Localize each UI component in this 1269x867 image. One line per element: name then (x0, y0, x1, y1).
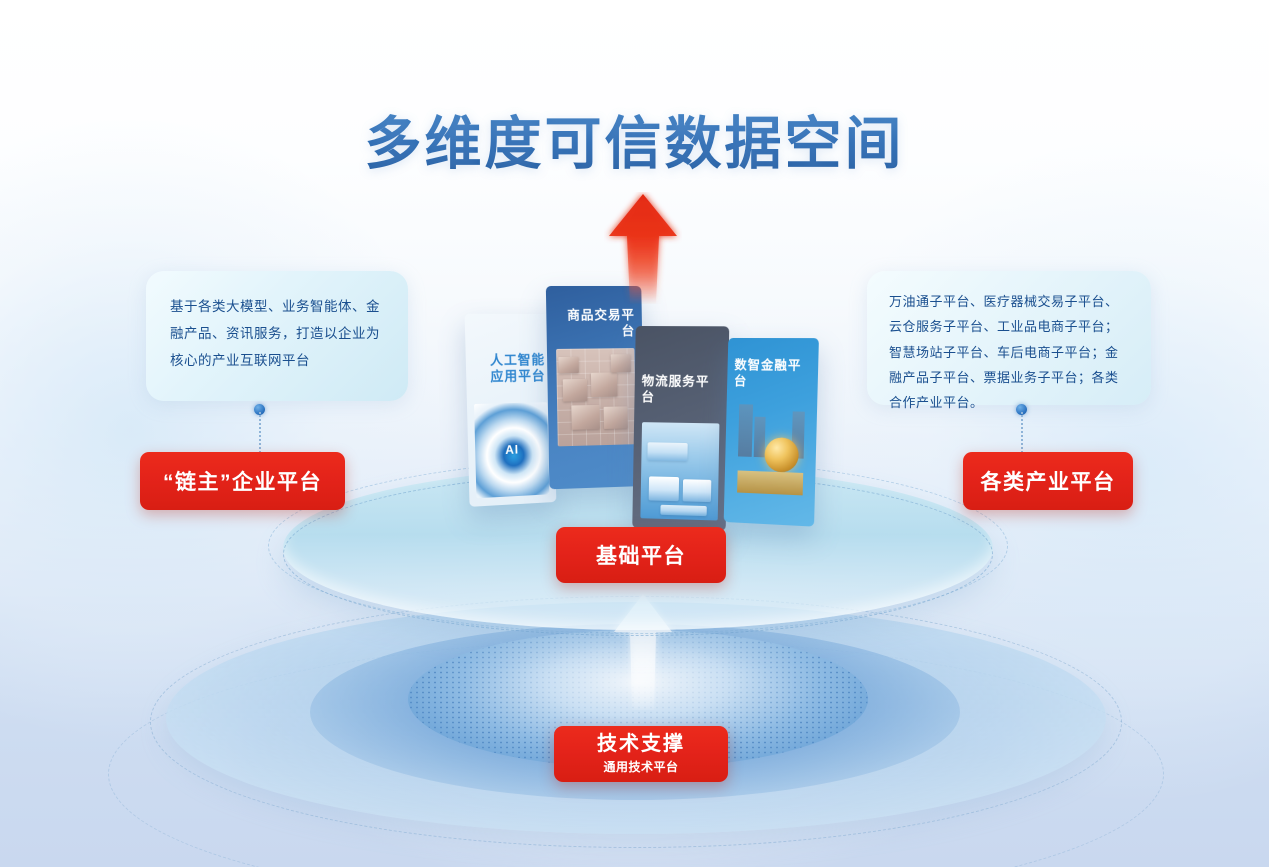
label-chain-leader-platform[interactable]: “链主”企业平台 (140, 452, 345, 510)
platform-card-finance-image (733, 398, 809, 495)
platform-card-logistics-image (640, 422, 719, 520)
label-base-platform[interactable]: 基础平台 (556, 527, 726, 583)
platform-card-goods[interactable]: 商品交易平台 (546, 286, 645, 489)
label-tech-support[interactable]: 技术支撑 通用技术平台 (554, 726, 728, 782)
platform-card-logistics[interactable]: 物流服务平台 (632, 326, 729, 531)
callout-right: 万油通子平台、医疗器械交易子平台、云仓服务子平台、工业品电商子平台；智慧场站子平… (867, 271, 1151, 405)
platform-card-finance-title: 数智金融平台 (734, 358, 811, 391)
platform-card-goods-title: 商品交易平台 (554, 308, 635, 340)
platform-card-finance[interactable]: 数智金融平台 (724, 338, 819, 527)
platform-card-ai[interactable]: 人工智能 应用平台 AI (465, 314, 557, 507)
page-title: 多维度可信数据空间 (0, 98, 1269, 180)
label-industry-platforms[interactable]: 各类产业平台 (963, 452, 1133, 510)
label-tech-support-main: 技术支撑 (597, 733, 685, 756)
platform-card-logistics-title: 物流服务平台 (641, 374, 720, 406)
label-tech-support-sub: 通用技术平台 (603, 758, 678, 775)
gold-globe-graphic (764, 437, 799, 473)
callout-left: 基于各类大模型、业务智能体、金融产品、资讯服务，打造以企业为核心的产业互联网平台 (146, 271, 408, 401)
ai-badge-label: AI (475, 441, 548, 458)
infographic-canvas: 人工智能 应用平台 AI 商品交易平台 物流服务平台 (0, 0, 1269, 867)
platform-card-goods-image (556, 348, 636, 446)
platform-card-ai-image: AI (474, 402, 549, 498)
platform-card-ai-title: 人工智能 应用平台 (475, 352, 546, 386)
